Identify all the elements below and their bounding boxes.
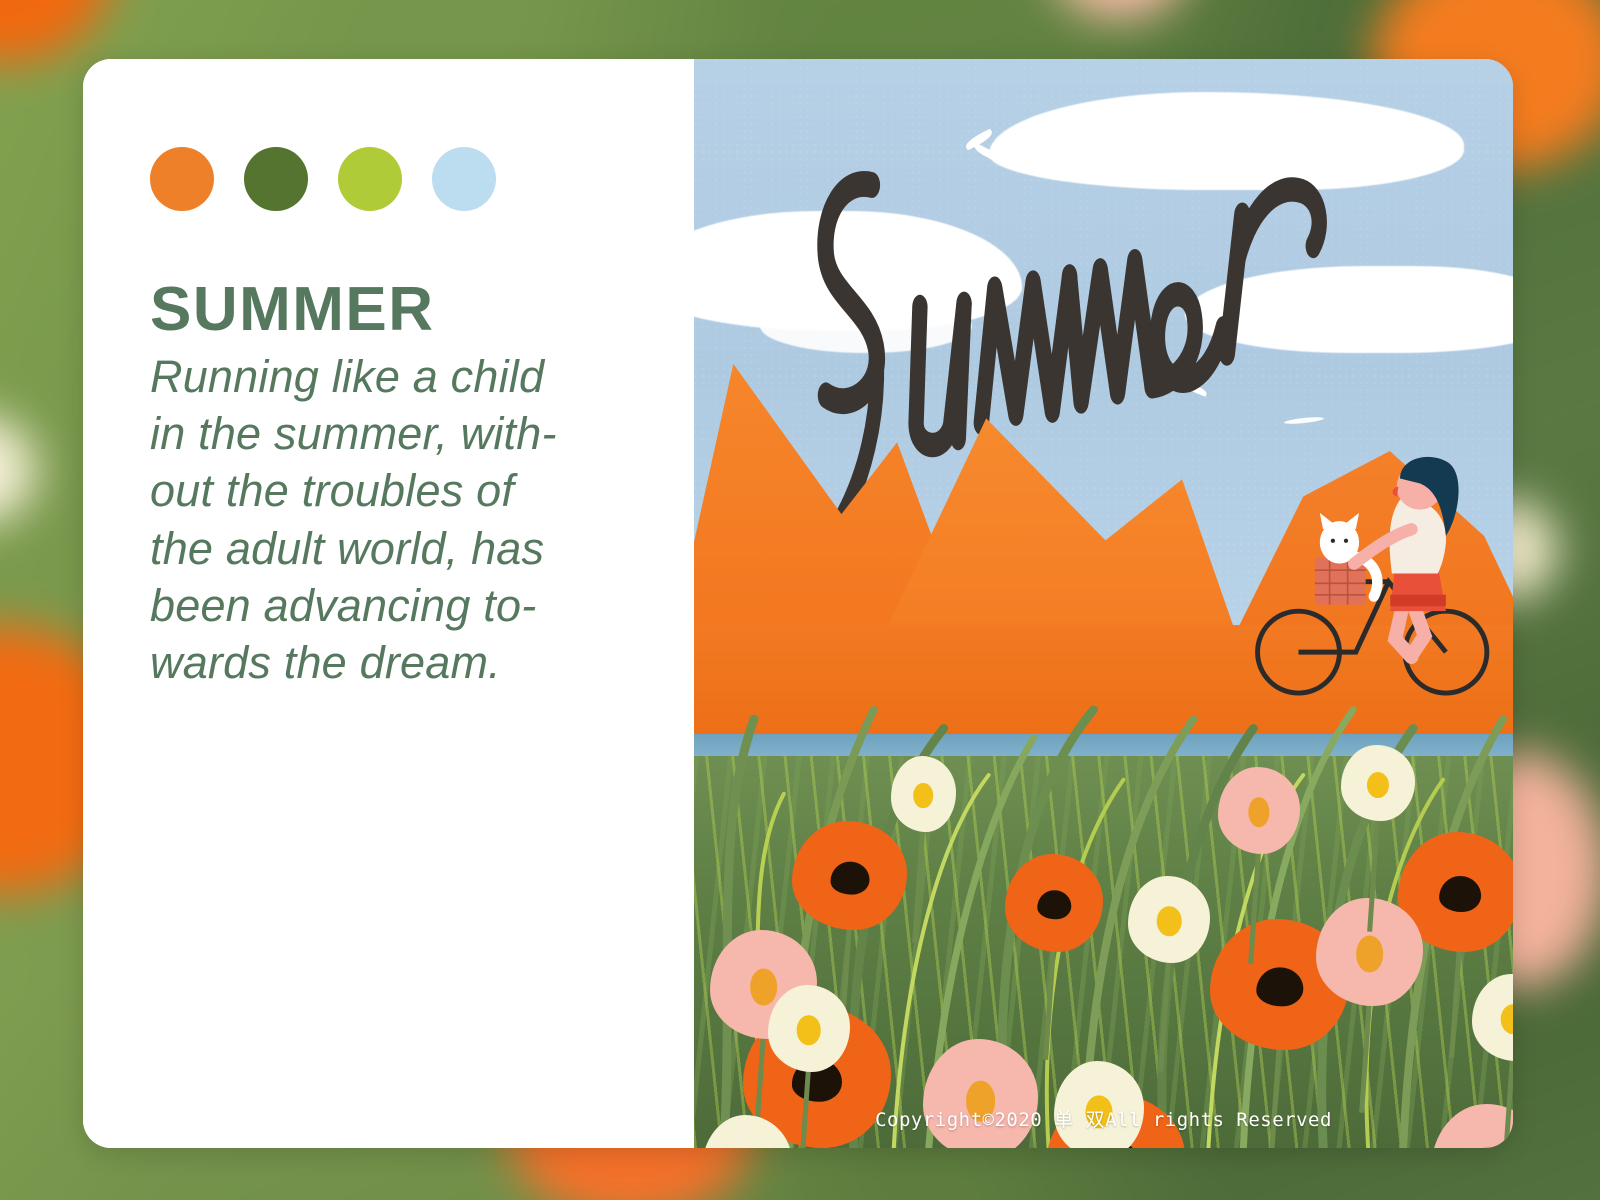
bloom-flower [1472, 974, 1513, 1061]
stamen [1038, 890, 1071, 919]
stamen [796, 1015, 821, 1045]
bloom-flower [1341, 745, 1415, 821]
bloom-flower [1128, 876, 1210, 963]
stamen [1439, 877, 1481, 913]
stamen [1356, 936, 1384, 973]
cloud [760, 299, 973, 353]
stamen [830, 862, 869, 895]
copyright-notice: Copyright©2020 单 双All rights Reserved [694, 1105, 1513, 1132]
illustration-panel: Copyright©2020 单 双All rights Reserved [694, 59, 1513, 1148]
tulip-flower [1218, 767, 1300, 854]
stamen [913, 783, 933, 809]
body-line: Running like a child [150, 348, 620, 405]
body-line: wards the dream. [150, 634, 620, 691]
bloom-flower [891, 756, 957, 832]
page-title: SUMMER [150, 277, 694, 342]
body-line: in the summer, with- [150, 405, 620, 462]
poppy-flower [792, 821, 907, 930]
body-paragraph: Running like a child in the summer, with… [150, 348, 620, 691]
stamen [1256, 968, 1303, 1007]
cyclist-figure [1251, 353, 1497, 810]
swatch-orange[interactable] [150, 147, 214, 211]
content-card: SUMMER Running like a child in the summe… [83, 59, 1513, 1148]
swatch-dark-green[interactable] [244, 147, 308, 211]
bloom-flower [768, 985, 850, 1072]
swatch-light-blue[interactable] [432, 147, 496, 211]
stamen [1367, 772, 1389, 798]
stamen [1157, 906, 1182, 936]
stamen [1248, 797, 1269, 827]
text-panel: SUMMER Running like a child in the summe… [83, 59, 694, 1148]
swatch-lime-green[interactable] [338, 147, 402, 211]
poster-page: SUMMER Running like a child in the summe… [0, 0, 1600, 1200]
color-palette [150, 147, 694, 211]
body-line: the adult world, has [150, 520, 620, 577]
body-line: been advancing to- [150, 577, 620, 634]
poppy-flower [1005, 854, 1103, 952]
body-line: out the troubles of [150, 462, 620, 519]
